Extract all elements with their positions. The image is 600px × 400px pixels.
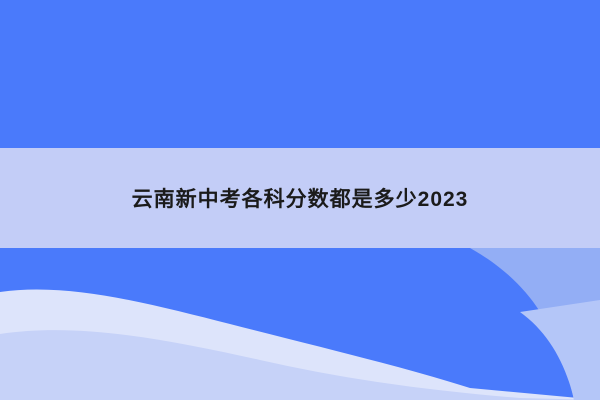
wave-decoration-group [0, 248, 600, 400]
top-color-band [0, 0, 600, 148]
title-band: 云南新中考各科分数都是多少2023 [0, 148, 600, 248]
accent-wave-shape [520, 300, 600, 400]
page-title: 云南新中考各科分数都是多少2023 [132, 183, 469, 213]
banner-card: 云南新中考各科分数都是多少2023 [0, 0, 600, 400]
bottom-decoration-band [0, 248, 600, 400]
